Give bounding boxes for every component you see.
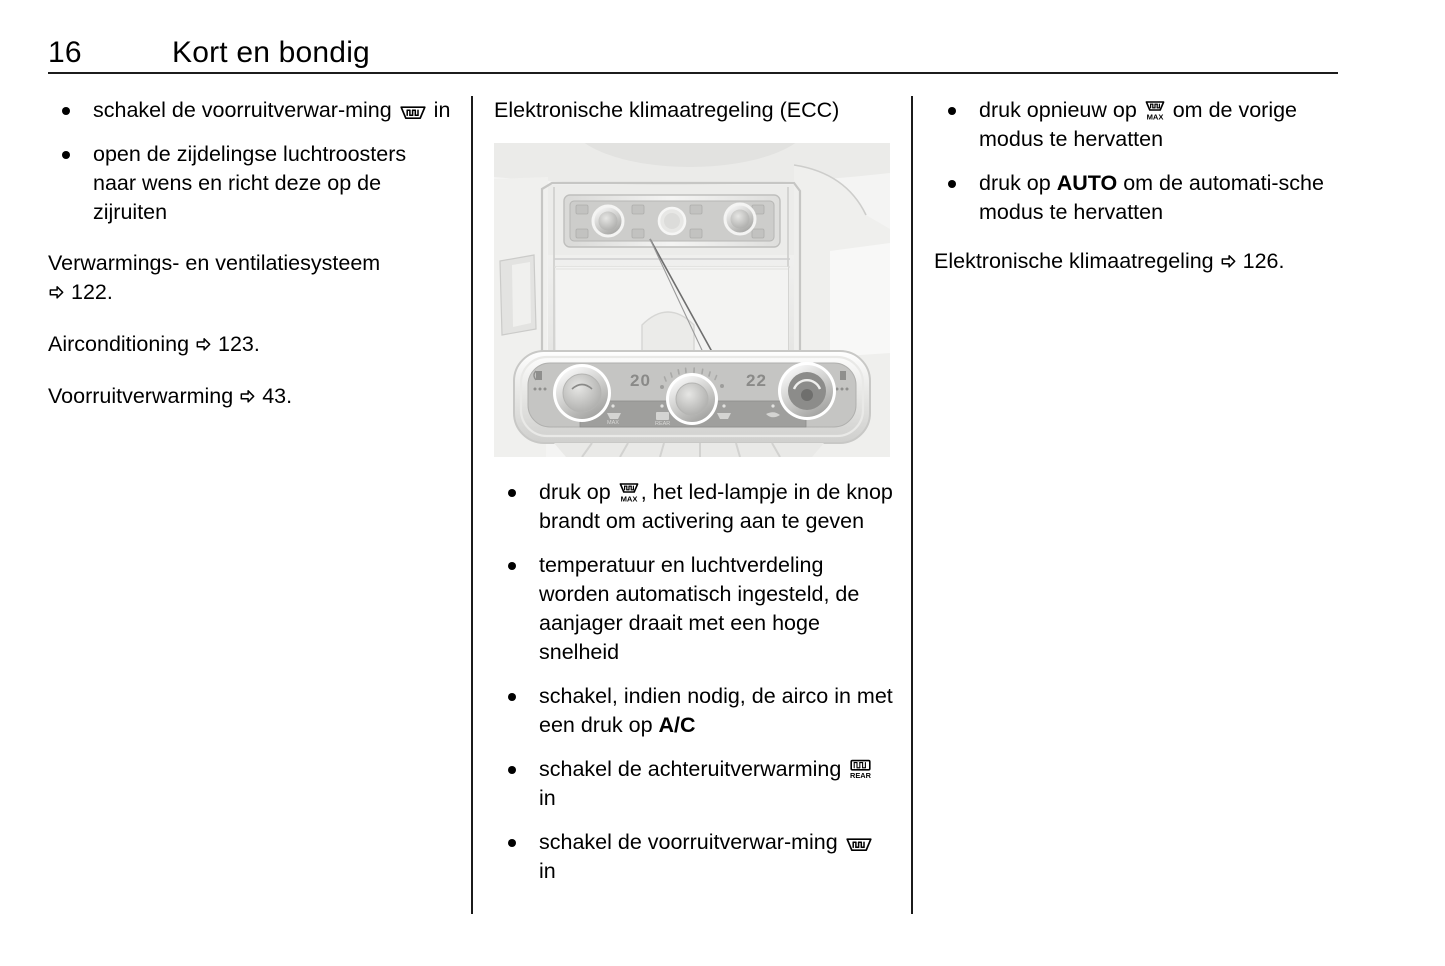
cross-reference-arrow-icon	[239, 383, 256, 412]
list-item: schakel de voorruitverwar-­ming in	[494, 828, 894, 886]
list-item: temperatuur en luchtverdeling worden aut…	[494, 551, 894, 667]
page-number: 16	[48, 34, 82, 72]
svg-text:REAR: REAR	[850, 771, 872, 780]
list-item: druk opnieuw op MAX om de vorige modus t…	[934, 96, 1340, 154]
column-divider-left	[471, 96, 473, 914]
bullet-bold-term: AUTO	[1057, 171, 1118, 195]
bullet-text-before: druk op	[539, 480, 617, 504]
svg-text:REAR: REAR	[655, 421, 670, 427]
header-divider-rule	[48, 72, 1338, 74]
bullet-text-before: schakel de voorruitverwar-­ming	[93, 98, 398, 122]
right-column: druk opnieuw op MAX om de vorige modus t…	[934, 96, 1340, 277]
right-temp-display: 22	[746, 371, 767, 390]
bullet-text-after: in	[539, 786, 556, 810]
bullet-bold-term: A/C	[659, 713, 696, 737]
bullet-text-before: schakel de voorruitverwar-­ming	[539, 830, 844, 854]
max-defrost-icon: MAX	[619, 482, 639, 504]
manual-page: 16 Kort en bondig schakel de voorruitver…	[0, 0, 1445, 966]
bullet-text-after: in	[428, 98, 451, 122]
bullet-text-before: druk op	[979, 171, 1057, 195]
chapter-title: Kort en bondig	[172, 34, 370, 72]
list-item: druk op MAX , het led-lampje in de knop …	[494, 478, 894, 536]
column-divider-right	[911, 96, 913, 914]
cross-reference: Verwarmings- en ventilatiesysteem 122.	[48, 249, 453, 308]
bullet-text-before: schakel, indien nodig, de airco in met e…	[539, 684, 893, 737]
left-temp-display: 20	[630, 371, 651, 390]
cross-reference-arrow-icon	[1220, 248, 1237, 277]
bullet-text-before: schakel de achteruitverwarming	[539, 757, 847, 781]
list-item: schakel, indien nodig, de airco in met e…	[494, 682, 894, 740]
cross-reference-page: 122.	[71, 280, 113, 304]
climate-control-console-photo: 20 22 M	[494, 143, 890, 457]
cross-reference-page: 126.	[1243, 249, 1285, 273]
left-column: schakel de voorruitverwar-­ming in open …	[48, 96, 453, 412]
cross-reference: Airconditioning 123.	[48, 330, 453, 360]
right-column-bullet-list: druk opnieuw op MAX om de vorige modus t…	[934, 96, 1340, 227]
middle-column-bullets: druk op MAX , het led-lampje in de knop …	[494, 478, 894, 886]
svg-text:MAX: MAX	[607, 420, 619, 426]
cross-reference-arrow-icon	[195, 331, 212, 360]
cross-reference: Elektronische klimaatregeling 126.	[934, 247, 1340, 277]
section-heading: Elektronische klimaatregeling (ECC)	[494, 96, 892, 125]
list-item: open de zijdelingse luchtroosters naar w…	[48, 140, 453, 227]
page-header: 16 Kort en bondig	[48, 34, 1340, 72]
bullet-text: temperatuur en luchtverdeling worden aut…	[539, 553, 859, 664]
cross-reference-label: Verwarmings- en ventilatiesysteem	[48, 251, 380, 275]
bullet-text: open de zijdelingse luchtroosters naar w…	[93, 142, 406, 224]
list-item: schakel de achteruitverwarming REAR in	[494, 755, 894, 813]
cross-reference-page: 123.	[218, 332, 260, 356]
bullet-text-before: druk opnieuw op	[979, 98, 1143, 122]
rear-defrost-icon: REAR	[849, 759, 872, 780]
middle-column: Elektronische klimaatregeling (ECC)	[494, 96, 892, 125]
bullet-text-after: in	[539, 859, 556, 883]
max-defrost-icon: MAX	[1145, 100, 1165, 122]
windshield-defrost-icon	[400, 99, 426, 114]
cross-reference-page: 43.	[262, 384, 292, 408]
svg-text:MAX: MAX	[620, 495, 637, 504]
windshield-defrost-icon	[846, 831, 872, 846]
svg-text:MAX: MAX	[1146, 113, 1163, 122]
middle-column-bullet-list: druk op MAX , het led-lampje in de knop …	[494, 478, 894, 886]
cross-reference: Voorruitverwarming 43.	[48, 382, 453, 412]
cross-reference-label: Airconditioning	[48, 332, 189, 356]
list-item: schakel de voorruitverwar-­ming in	[48, 96, 453, 125]
left-column-bullet-list: schakel de voorruitverwar-­ming in open …	[48, 96, 453, 227]
list-item: druk op AUTO om de automati-­sche modus …	[934, 169, 1340, 227]
cross-reference-label: Elektronische klimaatregeling	[934, 249, 1214, 273]
cross-reference-label: Voorruitverwarming	[48, 384, 233, 408]
cross-reference-arrow-icon	[48, 279, 65, 308]
